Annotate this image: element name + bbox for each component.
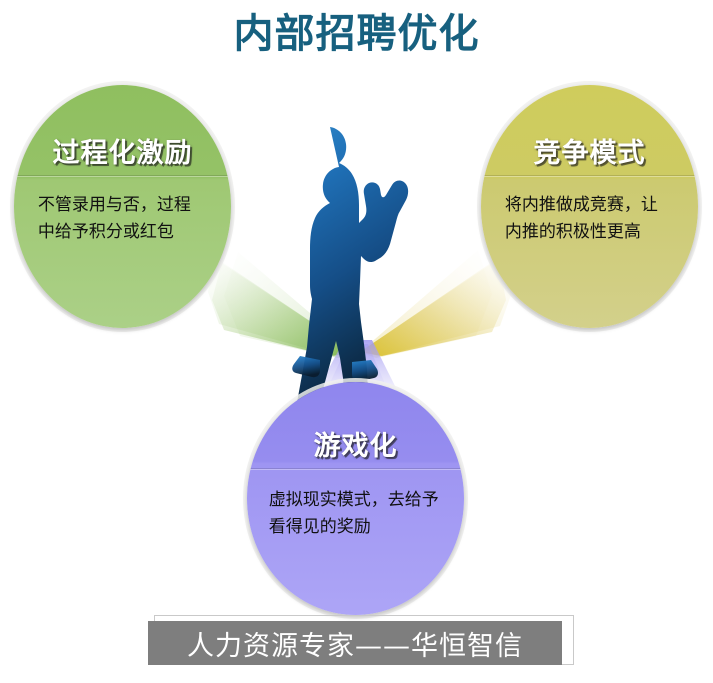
ray-green-left-wide [224,252,356,358]
bubble-title-gamification: 游戏化 [314,424,398,463]
bubble-process-incentive[interactable]: 过程化激励 不管录用与否，过程中给予积分或红包 [14,85,231,328]
bubble-body-process-incentive: 不管录用与否，过程中给予积分或红包 [38,192,207,246]
footer-text: 人力资源专家——华恒智信 [187,624,523,663]
bubble-divider [14,175,231,176]
bubble-divider [247,468,464,469]
bubble-title-competition-mode: 竞争模式 [534,131,646,170]
bubble-body-gamification: 虚拟现实模式，去给予看得见的奖励 [269,487,443,541]
ray-green-left [212,262,356,356]
bubble-body-competition-mode: 将内推做成竞赛，让内推的积极性更高 [505,192,674,246]
infographic-canvas: 内部招聘优化 [0,0,713,683]
footer-banner: 人力资源专家——华恒智信 [148,621,568,671]
footer-box: 人力资源专家——华恒智信 [148,621,562,665]
bubble-competition-mode[interactable]: 竞争模式 将内推做成竞赛，让内推的积极性更高 [481,85,698,328]
bubble-gamification[interactable]: 游戏化 虚拟现实模式，去给予看得见的奖励 [247,382,464,615]
bubble-title-process-incentive: 过程化激励 [53,131,193,170]
page-title: 内部招聘优化 [0,8,713,60]
bubble-divider [481,175,698,176]
ray-yellow-right-wide [360,250,492,358]
